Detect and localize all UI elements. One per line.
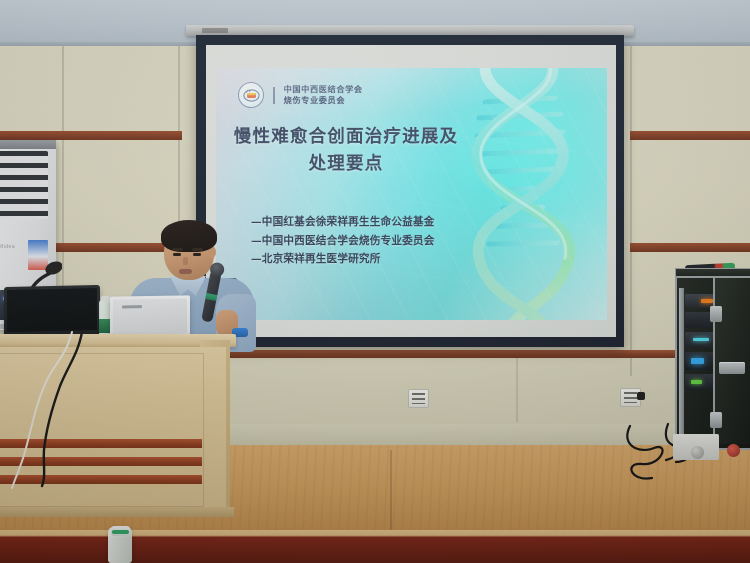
floor-seam [390, 450, 392, 532]
rack-handle[interactable] [719, 362, 745, 374]
rack-caster-wheel [691, 446, 704, 459]
rack-mount-rail [679, 288, 684, 440]
slide-title-line2: 处理要点 [216, 151, 476, 178]
wall-accent-stripe [630, 243, 750, 252]
plugged-connector [637, 392, 645, 400]
wall-accent-stripe [630, 131, 750, 140]
presenter-eyebrow-right [192, 248, 203, 251]
bottle-cap-ring [112, 530, 129, 534]
microphone-band [205, 293, 217, 301]
slide-bullet-list: —中国红基会徐荣祥再生生命公益基金 —中国中西医结合学会烧伤专业委员会 —北京荣… [251, 215, 501, 268]
rack-caster-wheel [727, 444, 740, 457]
association-name: 中国中西医结合学会 烧伤专业委员会 [284, 85, 363, 105]
rack-indicator-cyan-icon [693, 338, 709, 341]
association-emblem-icon [238, 82, 264, 108]
white-laptop[interactable] [110, 295, 190, 338]
slide-title: 慢性难愈合创面治疗进展及 处理要点 [216, 124, 476, 178]
laptop-brand-badge [122, 305, 142, 308]
podium-stripe [0, 475, 202, 484]
wall-accent-stripe [0, 131, 182, 140]
presentation-slide: 中国中西医结合学会 烧伤专业委员会 慢性难愈合创面治疗进展及 处理要点 —中国红… [216, 68, 607, 320]
slide-bullet-3: —北京荣祥再生医学研究所 [251, 252, 501, 268]
presenter-hair [161, 220, 217, 252]
rack-latch[interactable] [710, 306, 722, 322]
rack-indicator-orange-icon [701, 299, 713, 303]
socket-slots [624, 392, 637, 403]
bottle-cap [101, 296, 110, 302]
presenter-mouth [179, 269, 192, 274]
slide-header: 中国中西医结合学会 烧伤专业委员会 [238, 82, 363, 108]
header-divider [273, 87, 275, 104]
presenter-eyebrow-left [172, 248, 183, 251]
presenter-nose [183, 257, 188, 265]
presenter-eye-left [173, 253, 181, 256]
rack-indicator-green-icon [691, 380, 702, 384]
water-bottle-on-floor [108, 527, 132, 563]
association-name-line1: 中国中西医结合学会 [284, 85, 363, 95]
presenter-eye-right [193, 253, 201, 256]
association-name-line2: 烧伤专业委员会 [284, 96, 363, 106]
podium-base-trim [0, 507, 234, 517]
black-laptop[interactable] [4, 285, 100, 337]
slide-bullet-2: —中国中西医结合学会烧伤专业委员会 [251, 234, 501, 250]
slide-title-line1: 慢性难愈合创面治疗进展及 [234, 127, 458, 147]
laptop-screen [7, 288, 97, 332]
slide-light-wash [216, 68, 607, 320]
podium-stripe [0, 457, 202, 466]
ac-vent-louvers [0, 151, 48, 219]
slide-bullet-1: —中国红基会徐荣祥再生生命公益基金 [251, 215, 501, 231]
wall-panel-seam [516, 352, 518, 422]
ac-top-cap [0, 140, 56, 149]
wooden-podium [0, 334, 236, 520]
laptop-screen [113, 298, 187, 334]
rack-indicator-blue-icon [691, 358, 704, 364]
conference-room-photo: 中国中西医结合学会 烧伤专业委员会 慢性难愈合创面治疗进展及 处理要点 —中国红… [0, 0, 750, 563]
socket-slots [412, 393, 425, 404]
ac-brand-label: Midea [0, 244, 15, 250]
dna-helix-icon [451, 68, 601, 320]
av-equipment-rack [665, 266, 750, 458]
slide-glow [412, 68, 608, 209]
wall-panel-seam [630, 46, 632, 376]
podium-stripe [0, 439, 202, 448]
power-socket-center [408, 389, 429, 408]
rack-latch[interactable] [710, 412, 722, 428]
housing-brand-mark [202, 28, 228, 33]
